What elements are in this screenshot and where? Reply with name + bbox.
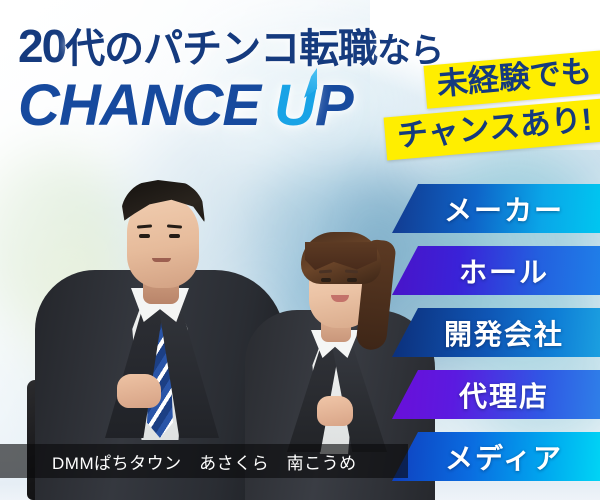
- category-label-media: メディア: [429, 437, 563, 477]
- headline-number: 20: [18, 20, 65, 72]
- category-item-media[interactable]: メディア: [392, 432, 600, 481]
- category-item-developer[interactable]: 開発会社: [392, 308, 600, 357]
- category-item-agency[interactable]: 代理店: [392, 370, 600, 419]
- chance-up-logo: CHANCEUP: [18, 72, 353, 139]
- headline-text: 20代のパチンコ転職なら: [18, 16, 443, 74]
- recruitment-banner-ad[interactable]: 20代のパチンコ転職なら CHANCEUP 未経験でも チャンスあり! メーカー…: [0, 0, 600, 500]
- logo-chance-text: CHANCE: [18, 73, 260, 138]
- logo-p-letter: P: [315, 73, 353, 138]
- logo-u-letter: U: [274, 72, 315, 139]
- category-item-hall[interactable]: ホール: [392, 246, 600, 295]
- category-label-maker: メーカー: [428, 189, 564, 229]
- category-label-agency: 代理店: [443, 375, 549, 415]
- category-label-hall: ホール: [443, 251, 549, 291]
- caption-text: DMMぱちタウン あさくら 南こうめ: [0, 449, 357, 474]
- category-list: メーカー ホール 開発会社 代理店 メディア: [392, 184, 600, 494]
- headline-middle: 代のパチンコ転職: [65, 27, 377, 71]
- category-label-developer: 開発会社: [428, 313, 564, 353]
- caption-bar: DMMぱちタウン あさくら 南こうめ: [0, 444, 408, 478]
- category-item-maker[interactable]: メーカー: [392, 184, 600, 233]
